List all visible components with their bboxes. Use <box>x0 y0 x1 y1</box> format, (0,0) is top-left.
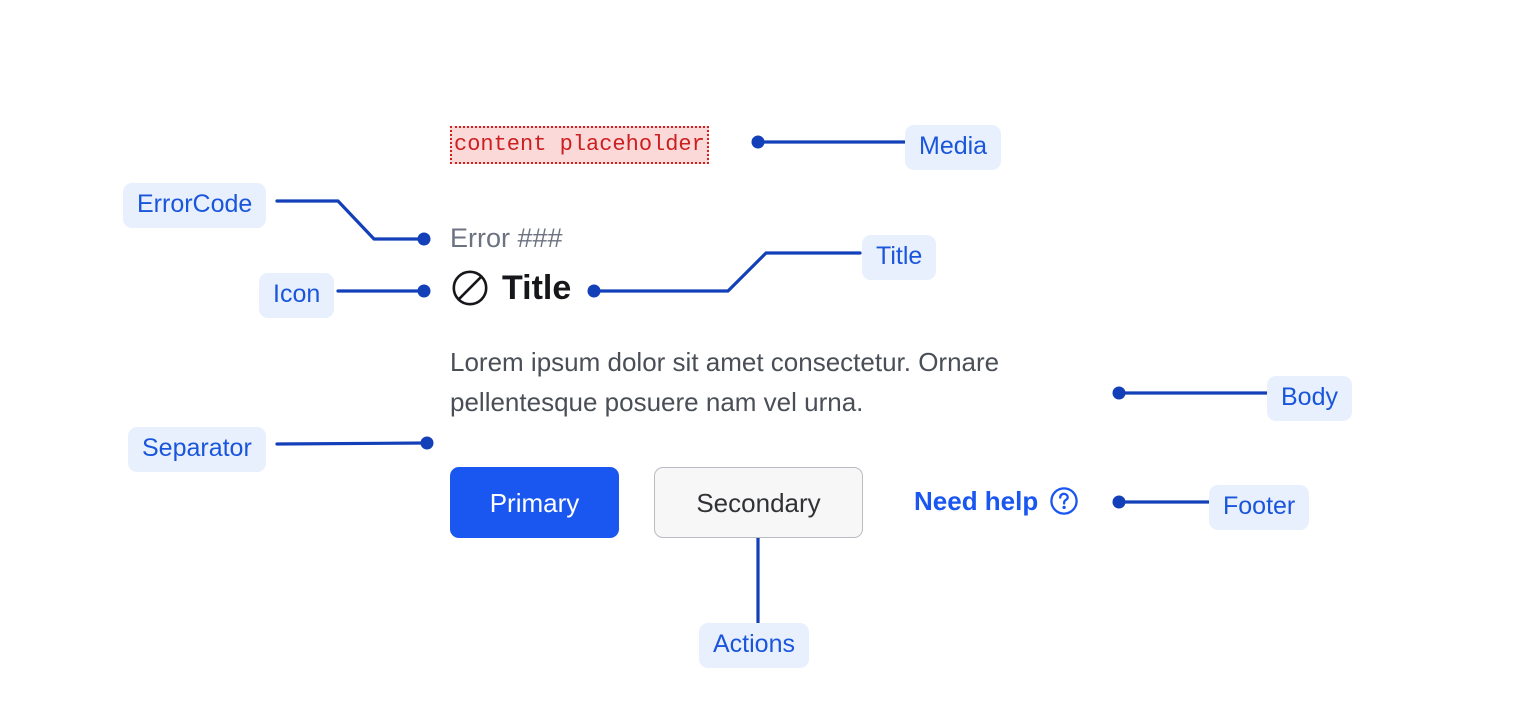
error-code-text: Error ### <box>450 225 563 252</box>
need-help-link[interactable]: Need help <box>914 486 1079 516</box>
dialog-title-row: Title <box>450 268 571 308</box>
dialog-actions-row: Primary Secondary <box>450 467 863 538</box>
annotated-dialog-canvas: content placeholder Error ### Title Lore… <box>0 0 1536 724</box>
connector-dot-separator <box>421 437 434 450</box>
connector-dot-body <box>1113 387 1126 400</box>
dialog-body-text: Lorem ipsum dolor sit amet consectetur. … <box>450 342 1090 422</box>
connector-title <box>596 253 860 291</box>
block-circle-icon <box>450 268 490 308</box>
annotation-chip-icon[interactable]: Icon <box>259 273 334 318</box>
annotation-chip-separator[interactable]: Separator <box>128 427 266 472</box>
annotation-chip-title[interactable]: Title <box>862 235 936 280</box>
connector-dot-errorcode <box>418 233 431 246</box>
connector-dot-icon <box>418 285 431 298</box>
connector-separator <box>277 443 425 444</box>
connector-dot-footer <box>1113 496 1126 509</box>
annotation-chip-media[interactable]: Media <box>905 125 1001 170</box>
need-help-label: Need help <box>914 488 1038 514</box>
annotation-chip-errorcode[interactable]: ErrorCode <box>123 183 266 228</box>
connector-dot-media <box>752 136 765 149</box>
question-circle-icon[interactable] <box>1049 486 1079 516</box>
annotation-chip-body[interactable]: Body <box>1267 376 1352 421</box>
annotation-chip-actions[interactable]: Actions <box>699 623 809 668</box>
primary-button[interactable]: Primary <box>450 467 619 538</box>
connector-errorcode <box>277 201 422 239</box>
media-content-placeholder: content placeholder <box>450 126 709 164</box>
annotation-chip-footer[interactable]: Footer <box>1209 485 1309 530</box>
secondary-button[interactable]: Secondary <box>654 467 863 538</box>
dialog-title: Title <box>502 271 571 305</box>
connector-dot-title <box>588 285 601 298</box>
